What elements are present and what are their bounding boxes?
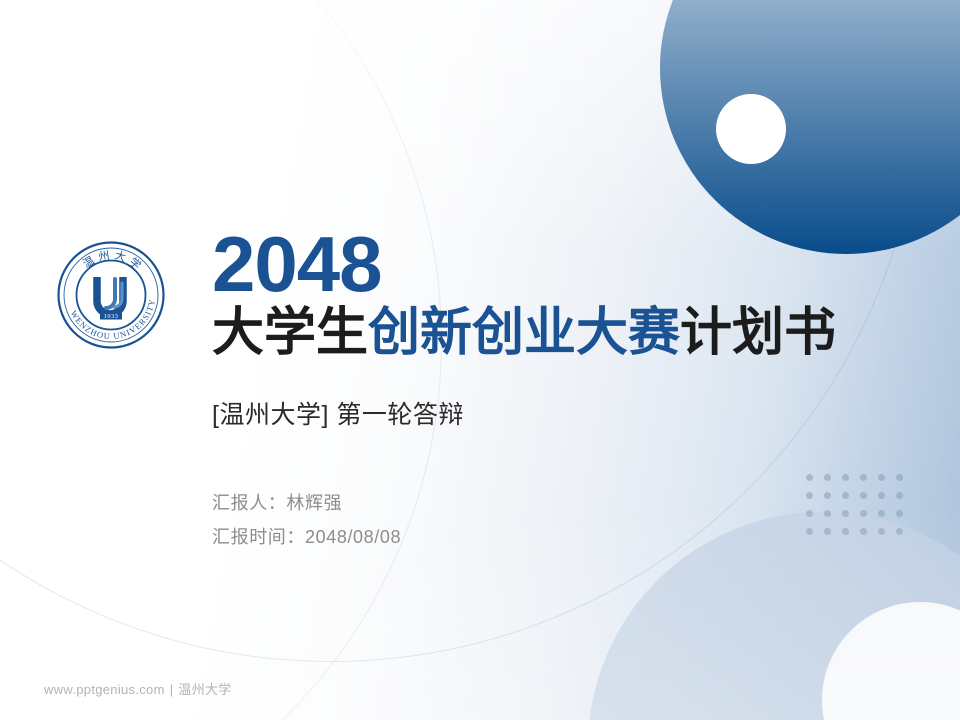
headline-suffix: 计划书 xyxy=(680,304,836,362)
navy-circle xyxy=(660,0,960,254)
footer-separator: | xyxy=(170,682,174,697)
wenzhou-university-seal-icon: 温州大学 WENZHOU UNIVERSITY 1933 xyxy=(55,239,167,351)
footer-site: www.pptgenius.com xyxy=(44,682,165,697)
white-circle-small xyxy=(716,94,786,164)
headline-highlight: 创新创业大赛 xyxy=(368,304,680,362)
page-title: 大学生创新创业大赛计划书 xyxy=(212,305,912,361)
presenter-line: 汇报人：林辉强 xyxy=(212,489,912,515)
meta-block: 汇报人：林辉强 汇报时间：2048/08/08 xyxy=(212,489,912,549)
university-logo: 温州大学 WENZHOU UNIVERSITY 1933 xyxy=(44,228,178,362)
presentation-slide: 温州大学 WENZHOU UNIVERSITY 1933 2048 大学生创新创… xyxy=(0,0,960,720)
title-block: 2048 大学生创新创业大赛计划书 [温州大学] 第一轮答辩 汇报人：林辉强 汇… xyxy=(212,228,912,557)
year-heading: 2048 xyxy=(212,228,912,301)
headline-prefix: 大学生 xyxy=(212,304,368,362)
date-line: 汇报时间：2048/08/08 xyxy=(212,523,912,549)
svg-text:1933: 1933 xyxy=(104,313,119,320)
footer-organization: 温州大学 xyxy=(178,682,231,697)
footer: www.pptgenius.com|温州大学 xyxy=(44,679,232,698)
subtitle: [温州大学] 第一轮答辩 xyxy=(212,395,912,431)
